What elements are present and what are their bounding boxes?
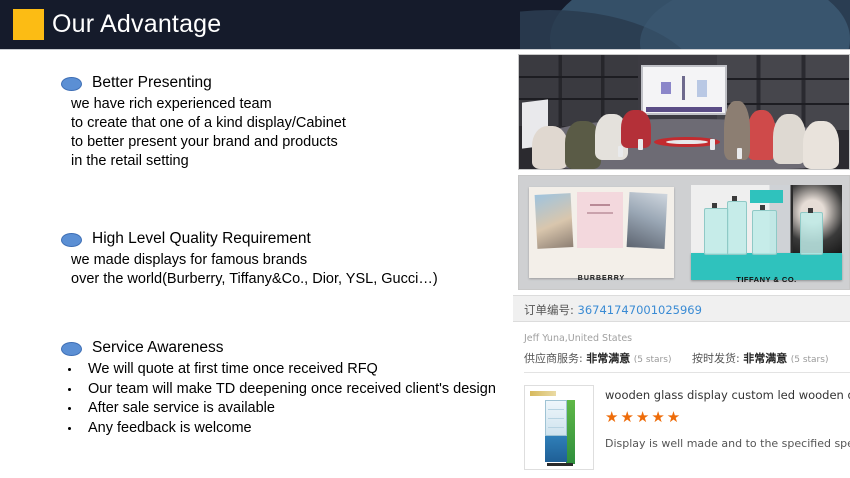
advantage-block-service: Service Awareness We will quote at first… [0, 337, 512, 438]
person [747, 110, 777, 160]
list-item: over the world(Burberry, Tiffany&Co., Di… [0, 270, 512, 289]
display-tag [750, 190, 783, 204]
header-decoration-circles [520, 0, 850, 49]
meeting-room-photo [518, 54, 850, 170]
ratings-row: 供应商服务: 非常满意 (5 stars) 按时发货: 非常满意 (5 star… [524, 350, 850, 366]
perfume-bottle [752, 210, 777, 255]
tiffany-display: TIFFANY & CO. [684, 176, 849, 289]
rating-supplier-service: 供应商服务: 非常满意 (5 stars) [524, 350, 671, 366]
list-item-label: We will quote at first time once receive… [88, 361, 378, 377]
product-title[interactable]: wooden glass display custom led wooden d… [605, 388, 850, 402]
projector-screen [641, 65, 727, 115]
order-number-label: 订单编号: [524, 303, 574, 317]
advantage-heading-row: Service Awareness [0, 337, 512, 360]
bottle-cap [732, 196, 737, 201]
bullet-ellipse-icon [61, 233, 82, 247]
bottle-cap [760, 205, 765, 210]
list-item: in the retail setting [0, 152, 512, 171]
product-review: wooden glass display custom led wooden d… [513, 382, 850, 478]
person [621, 110, 651, 149]
bullet-ellipse-icon [61, 77, 82, 91]
list-item: we have rich experienced team [0, 95, 512, 114]
slide: Our Advantage Better Presenting we have … [0, 0, 850, 478]
display-graphic-left [534, 193, 573, 249]
screen-graphic [682, 76, 685, 100]
displays-illustration: BURBERRY TIFFANY & CO. [519, 176, 849, 289]
cabinet-shelf [548, 409, 564, 410]
display-text-line [587, 212, 613, 214]
perfume-bottle [800, 212, 823, 255]
cabinet-shelf [548, 418, 564, 419]
rating-value: 非常满意 [586, 352, 630, 365]
cabinet-base [547, 463, 573, 466]
shelf-line [519, 76, 638, 78]
water-bottle [710, 139, 715, 150]
burberry-logo-text: BURBERRY [519, 275, 684, 282]
display-text-line [590, 204, 610, 206]
cabinet-side-panel [566, 400, 575, 464]
cabinet-shelf [548, 427, 564, 428]
list-item: After sale service is available [0, 399, 512, 419]
deco-circle-3 [640, 0, 850, 49]
water-bottle [618, 146, 623, 157]
dash-bullet-icon [68, 368, 71, 371]
advantage-block-quality: High Level Quality Requirement we made d… [0, 228, 512, 289]
bullet-ellipse-icon [61, 342, 82, 356]
dash-bullet-icon [68, 388, 71, 391]
tiffany-logo-text: TIFFANY & CO. [684, 275, 849, 284]
page-title: Our Advantage [52, 7, 221, 41]
perfume-bottle [727, 201, 747, 255]
watermark-logo [530, 391, 556, 396]
display-cabinet-image [545, 400, 575, 464]
list-item: to better present your brand and product… [0, 133, 512, 152]
screen-graphic [697, 80, 707, 97]
product-thumbnail[interactable] [524, 385, 594, 470]
list-item-label: After sale service is available [88, 400, 275, 416]
list-item: We will quote at first time once receive… [0, 360, 512, 380]
screen-graphic [661, 82, 671, 94]
bottle-cap [808, 208, 813, 213]
advantage-block-presenting: Better Presenting we have rich experienc… [0, 72, 512, 171]
order-number-bar: 订单编号: 36741747001025969 [513, 295, 850, 322]
star-rating-icon: ★★★★★ [605, 410, 682, 426]
evidence-panel: BURBERRY TIFFANY & CO. [513, 50, 850, 478]
dash-bullet-icon [68, 427, 71, 430]
section-divider [524, 372, 850, 373]
advantage-heading: Better Presenting [92, 72, 212, 94]
advantage-detail-list: we have rich experienced team to create … [0, 95, 512, 171]
burberry-display: BURBERRY [519, 176, 684, 289]
cabinet-glass-section [545, 400, 567, 436]
list-item-label: Any feedback is welcome [88, 420, 252, 436]
rating-on-time-delivery: 按时发货: 非常满意 (5 stars) [692, 350, 828, 366]
order-number-value[interactable]: 36741747001025969 [578, 303, 702, 317]
rating-stars-text: (5 stars) [634, 355, 672, 365]
meeting-room-illustration [519, 55, 849, 169]
display-graphic-center [577, 192, 623, 249]
rating-label: 按时发货: [692, 352, 740, 365]
header-accent-square [13, 9, 44, 40]
advantage-list: Better Presenting we have rich experienc… [0, 50, 512, 478]
advantage-heading: High Level Quality Requirement [92, 228, 311, 250]
advantage-heading: Service Awareness [92, 337, 224, 359]
water-bottle [737, 148, 742, 159]
list-item: we made displays for famous brands [0, 251, 512, 270]
shelf-line [717, 78, 849, 80]
buyer-name: Jeff Yuna,United States [524, 333, 632, 344]
screen-bottom-bar [646, 107, 721, 111]
bottle-cap [712, 203, 717, 208]
list-item: Any feedback is welcome [0, 419, 512, 439]
review-comment: Display is well made and to the specifie… [605, 437, 850, 450]
advantage-heading-row: Better Presenting [0, 72, 512, 95]
order-number-row: 订单编号: 36741747001025969 [524, 302, 702, 318]
list-item: to create that one of a kind display/Cab… [0, 114, 512, 133]
advantage-detail-list: we made displays for famous brands over … [0, 251, 512, 289]
perfume-bottle [704, 208, 729, 255]
list-item-label: Our team will make TD deepening once rec… [88, 381, 496, 397]
rating-stars-text: (5 stars) [791, 355, 829, 365]
rating-label: 供应商服务: [524, 352, 583, 365]
slide-header: Our Advantage [0, 0, 850, 49]
brand-displays-photo: BURBERRY TIFFANY & CO. [518, 175, 850, 290]
advantage-heading-row: High Level Quality Requirement [0, 228, 512, 251]
person [773, 114, 806, 164]
dash-bullet-icon [68, 407, 71, 410]
rating-value: 非常满意 [743, 352, 787, 365]
list-item: Our team will make TD deepening once rec… [0, 380, 512, 400]
display-graphic-right [626, 192, 667, 249]
person [532, 126, 568, 169]
water-bottle [638, 139, 643, 150]
person [803, 121, 839, 169]
service-detail-list: We will quote at first time once receive… [0, 360, 512, 438]
cabinet-lower-section [545, 436, 567, 462]
